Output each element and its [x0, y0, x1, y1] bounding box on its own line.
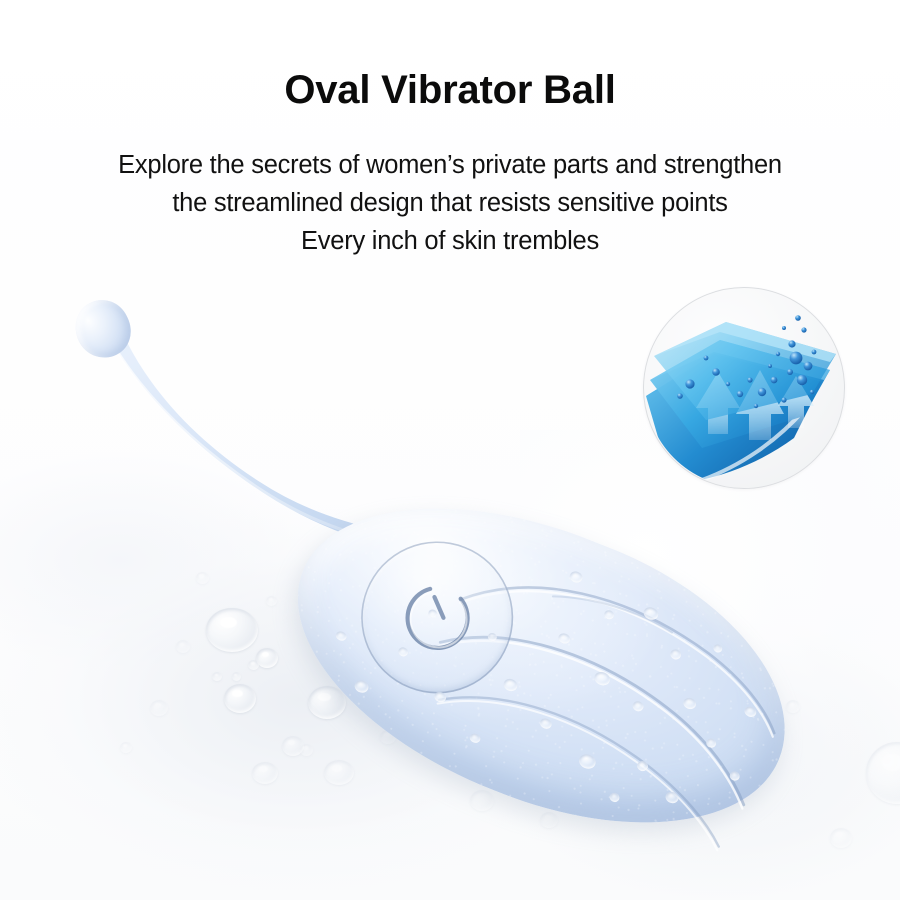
- water-droplet: [300, 744, 313, 756]
- water-droplet: [206, 608, 258, 652]
- water-droplet: [212, 672, 222, 681]
- water-droplet: [248, 660, 259, 670]
- water-droplet: [308, 686, 346, 719]
- water-droplet: [176, 640, 190, 653]
- water-droplet: [324, 760, 354, 785]
- waterproof-breathable-layers-badge: [643, 287, 845, 489]
- water-droplet: [150, 700, 168, 716]
- water-droplet: [470, 790, 494, 811]
- water-droplet: [266, 596, 277, 606]
- product-marketing-image: Oval Vibrator Ball Explore the secrets o…: [0, 0, 900, 900]
- water-droplet: [252, 762, 278, 784]
- water-droplet: [256, 648, 278, 668]
- water-droplet: [196, 572, 209, 584]
- subtitle-block: Explore the secrets of women’s private p…: [0, 146, 900, 260]
- water-droplet: [786, 700, 800, 713]
- water-droplet: [120, 742, 132, 753]
- water-droplet: [224, 684, 256, 713]
- water-droplet: [700, 770, 720, 788]
- water-droplet: [232, 672, 241, 681]
- page-title: Oval Vibrator Ball: [0, 68, 900, 112]
- water-droplet: [540, 812, 558, 828]
- water-droplet: [380, 730, 396, 744]
- subtitle-line-3: Every inch of skin trembles: [0, 222, 900, 260]
- water-droplet: [348, 684, 364, 699]
- subtitle-line-1: Explore the secrets of women’s private p…: [0, 146, 900, 184]
- subtitle-line-2: the streamlined design that resists sens…: [0, 184, 900, 222]
- water-layers-bubbles-icon: [644, 288, 844, 488]
- water-droplet: [830, 828, 852, 848]
- water-droplet: [640, 800, 655, 814]
